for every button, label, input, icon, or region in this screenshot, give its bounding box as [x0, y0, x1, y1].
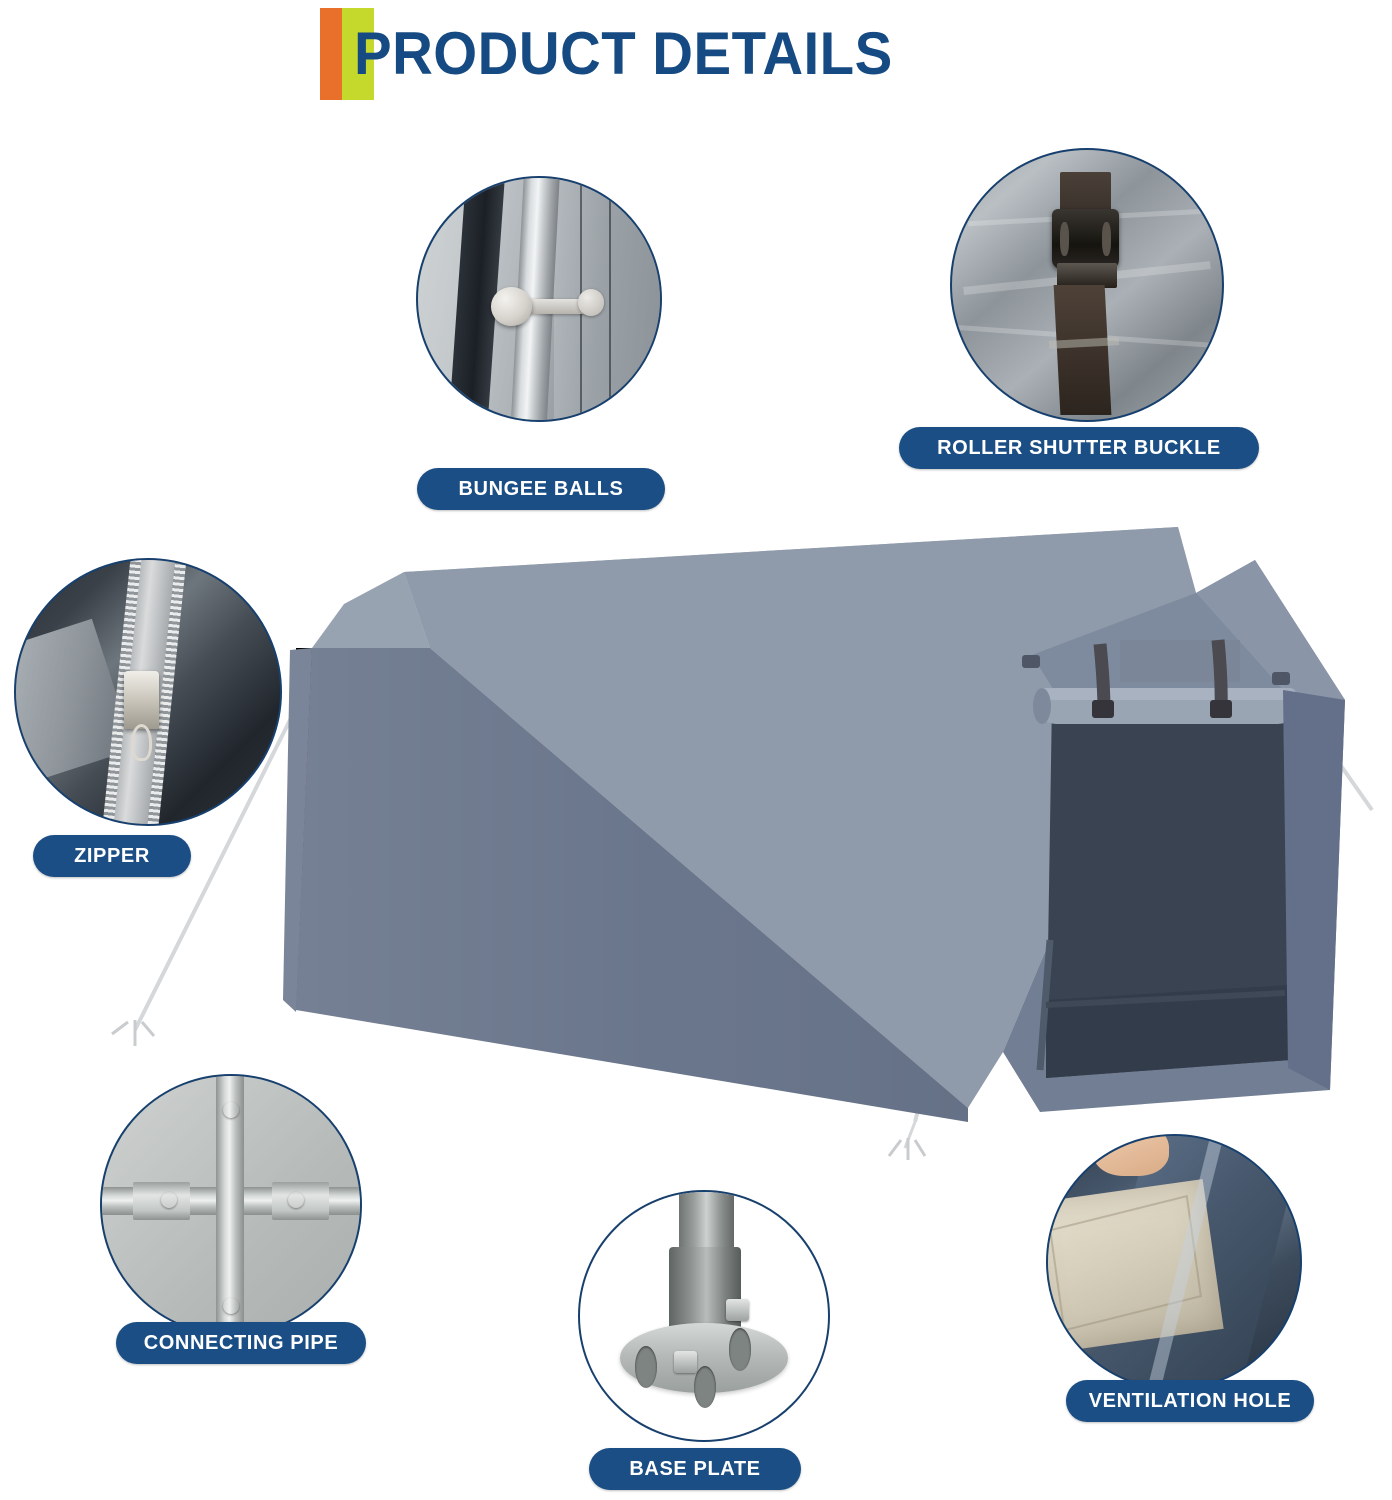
ground-stake-center: [889, 1138, 925, 1160]
shed-door-bottom-lip: [1046, 985, 1290, 1078]
callout-photo-bungee-balls: [416, 176, 662, 422]
page-title-text: PRODUCT DETAILS: [354, 8, 893, 100]
base-plate-anchor-hole-right: [729, 1328, 751, 1370]
shed-gable-slope-left: [1032, 593, 1283, 700]
shed-roof-ridge: [404, 527, 1196, 648]
door-strap-right: [1218, 640, 1221, 712]
callout-photo-ventilation-hole: [1046, 1134, 1302, 1390]
callout-photo-base-plate: [578, 1190, 830, 1442]
shed-front-panel: [1003, 560, 1345, 1112]
callout-photo-connecting-pipe: [100, 1074, 362, 1336]
shed-interior-frame-rail: [1046, 993, 1285, 1005]
rope-anchor-right: [1272, 672, 1290, 685]
guy-rope-left-upper: [915, 663, 1030, 1122]
base-plate-anchor-hole-left: [635, 1346, 657, 1388]
side-release-buckle: [1052, 209, 1120, 268]
page-title: PRODUCT DETAILS: [320, 8, 927, 100]
shed-gable-peak: [1196, 560, 1345, 700]
shed-doorway: [1046, 700, 1290, 1078]
zipper-slider: [124, 671, 158, 729]
door-strap-right-buckle: [1210, 700, 1232, 718]
label-connecting-pipe: CONNECTING PIPE: [116, 1322, 366, 1364]
pipe-bolt-right: [288, 1192, 304, 1208]
label-zipper: ZIPPER: [33, 835, 191, 877]
shed-roof-slope: [404, 527, 1196, 1108]
base-plate-anchor-hole-center: [694, 1366, 716, 1408]
label-roller-shutter-buckle: ROLLER SHUTTER BUCKLE: [899, 427, 1259, 469]
hand-lifting-flap: [1093, 1134, 1169, 1176]
buckle-strap-lower: [1054, 285, 1112, 415]
shed-vent-window: [1120, 640, 1240, 682]
bungee-ball: [491, 287, 532, 326]
shed-side-wall-edge: [283, 648, 312, 1012]
ground-stake-left: [112, 1020, 154, 1046]
shed-side-wall: [296, 648, 968, 1122]
bungee-ball-end: [578, 289, 605, 316]
shed-interior-frame-leg: [1040, 940, 1050, 1070]
pipe-bolt-top: [223, 1102, 239, 1118]
door-strap-left: [1100, 644, 1104, 712]
shed-roof-corner-chamfer: [312, 572, 430, 648]
shed-front-right-trim: [1283, 690, 1345, 1090]
zipper-pull-tab: [131, 724, 152, 761]
door-strap-left-buckle: [1092, 700, 1114, 718]
rope-anchor-left: [1022, 655, 1040, 668]
guy-rope-right: [1283, 683, 1372, 810]
callout-photo-zipper: [14, 558, 282, 826]
label-bungee-balls: BUNGEE BALLS: [417, 468, 665, 510]
callout-photo-roller-shutter-buckle: [950, 148, 1224, 422]
accent-bar-orange: [320, 8, 342, 100]
base-plate-screw-right: [726, 1299, 748, 1321]
base-plate-screw-front: [674, 1351, 696, 1373]
shed-rolled-door: [1038, 688, 1296, 724]
label-base-plate: BASE PLATE: [589, 1448, 801, 1490]
product-details-page: PRODUCT DETAILS: [0, 0, 1392, 1500]
label-ventilation-hole: VENTILATION HOLE: [1066, 1380, 1314, 1422]
